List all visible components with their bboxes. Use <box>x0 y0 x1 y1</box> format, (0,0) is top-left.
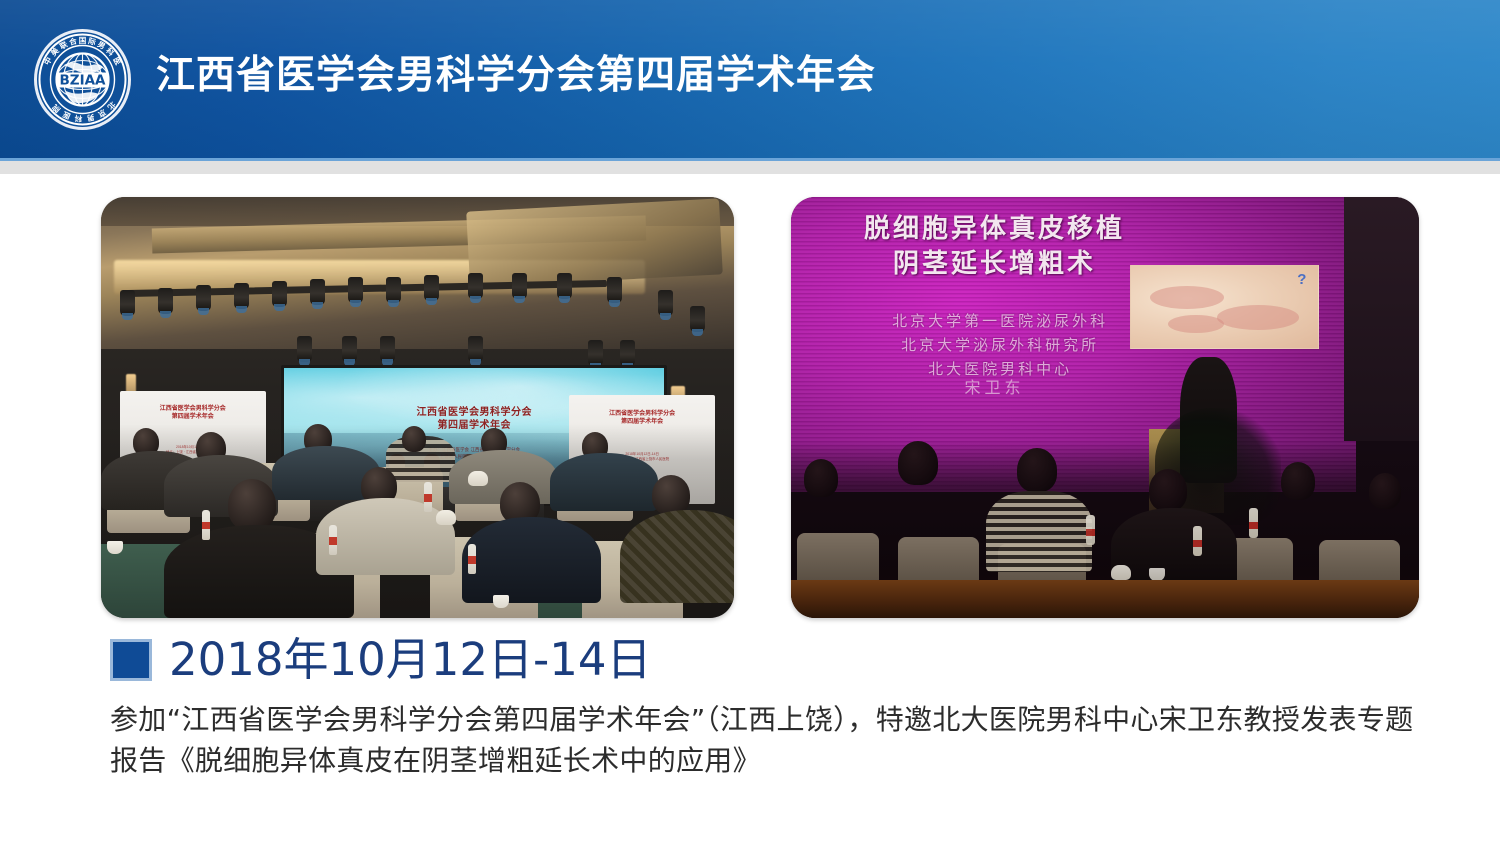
svg-text:BZIAA: BZIAA <box>60 73 107 89</box>
stage-light <box>120 290 135 316</box>
attendee-head <box>1281 462 1315 500</box>
banner-left-title: 江西省医学会男科学分会 第四届学术年会 <box>132 405 254 421</box>
ceiling-right-panel <box>466 199 723 288</box>
event-description: 参加“江西省医学会男科学分会第四届学术年会”（江西上饶），特邀北大医院男科中心宋… <box>110 699 1430 781</box>
lecture-scene: 脱细胞异体真皮移植 阴茎延长增粗术 北京大学第一医院泌尿外科 北京大学泌尿外科研… <box>791 197 1419 618</box>
attendee-head <box>1369 473 1401 509</box>
teapot <box>468 471 488 486</box>
stage-light <box>588 340 603 366</box>
slide-presenter-name: 宋卫东 <box>893 374 1096 398</box>
hall-scene: 江西省医学会男科学分会 第四届学术年会 主办：江西省医学会 江西省医学会男科学分… <box>101 197 734 618</box>
stage-light <box>690 306 705 332</box>
striped-shirt-attendee <box>986 491 1093 572</box>
stage-light <box>310 279 325 305</box>
attendee-head <box>898 441 938 485</box>
stage-light <box>272 281 287 307</box>
svg-text:国: 国 <box>79 35 87 45</box>
audience-area <box>101 424 734 618</box>
stage-light <box>380 336 395 362</box>
attendee-body <box>550 453 658 511</box>
stage-light <box>348 277 363 303</box>
stage-light <box>512 273 527 299</box>
inset-illustration <box>1150 286 1225 309</box>
water-bottle <box>424 482 432 512</box>
lecture-presentation-photo: 脱细胞异体真皮移植 阴茎延长增粗术 北京大学第一医院泌尿外科 北京大学泌尿外科研… <box>791 197 1419 618</box>
attendee-head <box>652 475 690 515</box>
slide-affiliations: 北京大学第一医院泌尿外科 北京大学泌尿外科研究所 北大医院男科中心 <box>836 309 1164 381</box>
stage-light <box>342 336 357 362</box>
stage-light <box>297 336 312 362</box>
attendee-head <box>804 459 838 497</box>
attendee-head-foreground <box>228 479 276 531</box>
stage-light <box>620 340 635 366</box>
stage-light <box>386 277 401 303</box>
stage-light <box>468 336 483 362</box>
inset-illustration <box>1217 305 1299 330</box>
water-bottle <box>202 510 210 540</box>
conference-hall-photo: 江西省医学会男科学分会 第四届学术年会 主办：江西省医学会 江西省医学会男科学分… <box>101 197 734 618</box>
stage-light <box>196 285 211 311</box>
stage-light <box>468 273 483 299</box>
teapot <box>1111 565 1131 580</box>
attendee-head <box>402 426 426 452</box>
teapot <box>436 510 456 525</box>
stage-light <box>557 273 572 299</box>
water-bottle <box>1086 515 1095 545</box>
attendee-head <box>1017 448 1057 492</box>
stage-front-edge <box>791 580 1419 618</box>
slide-inset-image: ? <box>1130 265 1319 350</box>
stage-light <box>658 290 673 316</box>
attendee-head <box>1149 469 1187 511</box>
stage-light <box>158 288 173 314</box>
header-gray-band <box>0 161 1500 174</box>
stage-side-wall <box>1344 197 1419 441</box>
event-date: 2018年10月12日-14日 <box>169 637 652 683</box>
stage-light <box>234 283 249 309</box>
stage-light <box>607 277 622 303</box>
tea-cup <box>107 541 123 554</box>
slide-title: 脱细胞异体真皮移植 阴茎延长增粗术 <box>814 212 1176 282</box>
date-row: 2018年10月12日-14日 <box>110 637 652 683</box>
stage-light <box>424 275 439 301</box>
tea-cup <box>493 595 509 608</box>
bullet-square-icon <box>110 639 152 681</box>
water-bottle <box>1193 526 1202 556</box>
water-bottle <box>1249 508 1258 538</box>
water-bottle <box>468 544 476 574</box>
attendee-body <box>316 498 455 575</box>
attendee-body <box>462 517 601 602</box>
water-bottle <box>329 525 337 555</box>
inset-illustration <box>1168 315 1224 333</box>
page-title: 江西省医学会男科学分会第四届学术年会 <box>156 50 876 102</box>
attendee-body-plaid <box>620 510 734 603</box>
bziaa-logo-icon: BZIAA 中 美 联 合 国 际 男 科 医 北 京 男 科 医 院 <box>32 29 133 130</box>
page-header: BZIAA 中 美 联 合 国 际 男 科 医 北 京 男 科 医 院 江西省医… <box>0 0 1500 158</box>
inset-question-mark: ? <box>1297 271 1306 288</box>
